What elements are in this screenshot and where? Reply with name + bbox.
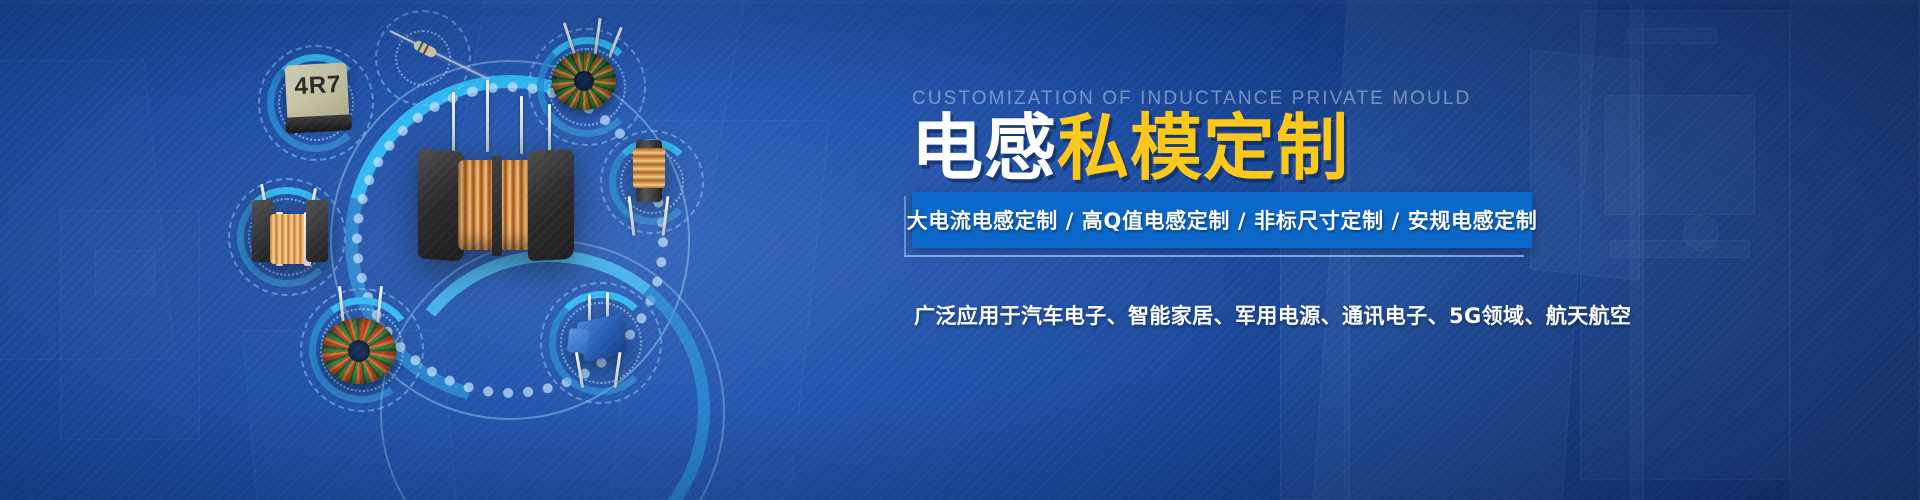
smd-chip-code-label: 4R7 [287, 70, 348, 101]
badge-axial-inductor [375, 10, 471, 106]
banner-copy: CUSTOMIZATION OF INDUCTANCE PRIVATE MOUL… [912, 0, 1920, 500]
rod-core-inductor [636, 140, 662, 202]
headline-white-part: 电感 [911, 106, 1057, 190]
toroid-inductor-top [552, 52, 616, 110]
headline-yellow-part: 私模定制 [1057, 106, 1349, 190]
feature-bar[interactable]: 大电流电感定制 / 高Q值电感定制 / 非标尺寸定制 / 安规电感定制 [912, 192, 1532, 248]
banner-headline: 电感私模定制 [911, 112, 1349, 184]
common-mode-choke-hero [418, 146, 574, 264]
choke-pin-1 [452, 92, 455, 154]
banner-subline: 广泛应用于汽车电子、智能家居、军用电源、通讯电子、5G领域、航天航空 [914, 300, 1631, 330]
feature-bar-text: 大电流电感定制 / 高Q值电感定制 / 非标尺寸定制 / 安规电感定制 [907, 205, 1538, 235]
feature-bar-underline [904, 255, 1524, 257]
choke-pin-2 [486, 80, 489, 152]
promo-banner: 4R7 [0, 0, 1920, 500]
toroid-inductor-bottom [322, 318, 396, 384]
product-showcase-graphic: 4R7 [0, 0, 760, 500]
common-mode-choke-small [252, 200, 328, 276]
